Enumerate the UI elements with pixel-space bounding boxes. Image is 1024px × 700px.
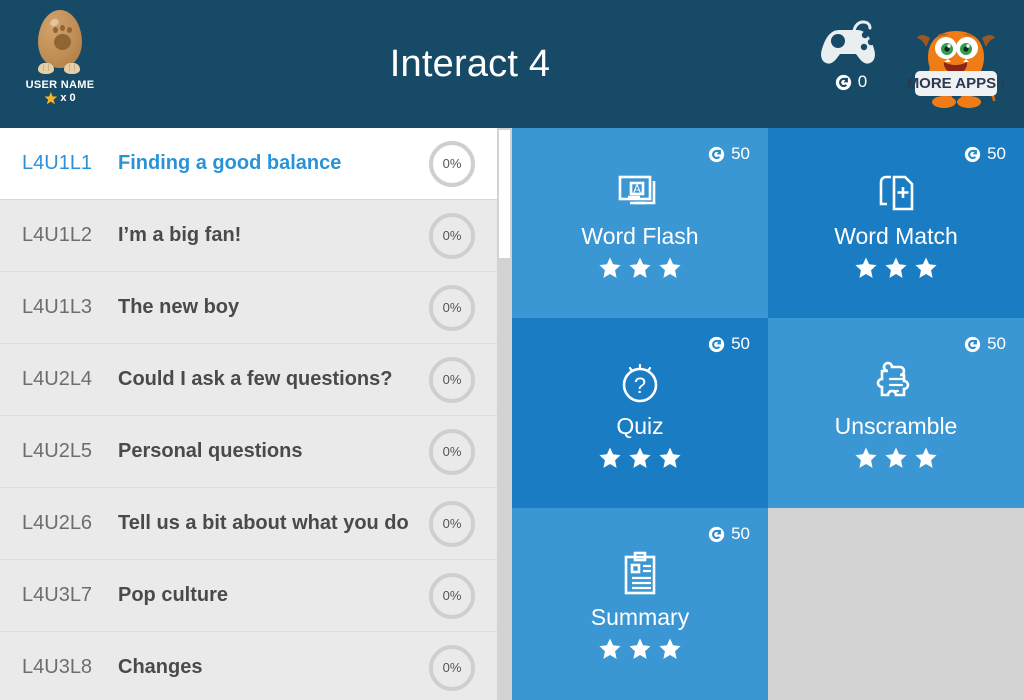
lesson-code: L4U1L3 — [22, 296, 118, 319]
avatar-toe — [67, 27, 72, 33]
avatar-toe — [53, 27, 58, 33]
star-icon — [915, 257, 937, 279]
tile-star-rating — [855, 447, 937, 469]
lesson-code: L4U2L6 — [22, 512, 118, 535]
lesson-row[interactable]: L4U3L7Pop culture0% — [0, 560, 497, 632]
activity-tile-empty — [768, 508, 1024, 700]
lesson-list[interactable]: L4U1L1Finding a good balance0%L4U1L2I’m … — [0, 128, 497, 700]
lesson-code: L4U1L2 — [22, 224, 118, 247]
coin-icon — [964, 336, 981, 353]
lesson-title: I’m a big fan! — [118, 224, 429, 247]
star-icon — [599, 638, 621, 660]
tile-coin-badge: 50 — [708, 334, 750, 354]
lesson-progress-ring: 0% — [429, 285, 475, 331]
user-avatar-block[interactable]: USER NAME x 0 — [12, 10, 108, 105]
avatar-foot-left — [38, 63, 54, 74]
tile-star-rating — [599, 638, 681, 660]
card-plus-icon — [870, 167, 922, 219]
lesson-progress-ring: 0% — [429, 501, 475, 547]
coin-icon — [708, 146, 725, 163]
svg-text:A: A — [633, 182, 641, 196]
tile-label: Unscramble — [835, 413, 958, 439]
star-icon — [659, 447, 681, 469]
star-icon — [599, 257, 621, 279]
star-icon — [855, 447, 877, 469]
star-icon — [659, 257, 681, 279]
svg-text:?: ? — [634, 373, 646, 398]
flashcard-icon: A — [614, 167, 666, 219]
lesson-progress-ring: 0% — [429, 645, 475, 691]
star-icon — [915, 447, 937, 469]
activity-tile[interactable]: 50Word Match — [768, 128, 1024, 318]
lesson-row[interactable]: L4U2L6Tell us a bit about what you do0% — [0, 488, 497, 560]
lesson-title: Could I ask a few questions? — [118, 368, 429, 391]
tile-star-rating — [855, 257, 937, 279]
lesson-title: Personal questions — [118, 440, 429, 463]
activity-tile[interactable]: 50Unscramble — [768, 318, 1024, 508]
tile-label: Summary — [591, 604, 689, 630]
avatar-foot-right — [64, 63, 80, 74]
app-root: USER NAME x 0 Interact 4 0 — [0, 0, 1024, 700]
lesson-progress-ring: 0% — [429, 429, 475, 475]
star-icon — [44, 92, 57, 105]
games-coin-count: 0 — [858, 72, 867, 92]
app-header: USER NAME x 0 Interact 4 0 — [0, 0, 1024, 128]
lesson-code: L4U3L8 — [22, 656, 118, 679]
lesson-code: L4U2L5 — [22, 440, 118, 463]
tile-coin-badge: 50 — [708, 524, 750, 544]
games-coin-counter: 0 — [812, 72, 890, 92]
user-star-score: x 0 — [12, 92, 108, 105]
activity-tile[interactable]: 50Summary — [512, 508, 768, 700]
tile-coin-count: 50 — [987, 334, 1006, 354]
lesson-progress-ring: 0% — [429, 573, 475, 619]
lesson-row[interactable]: L4U2L4Could I ask a few questions?0% — [0, 344, 497, 416]
lesson-code: L4U2L4 — [22, 368, 118, 391]
tile-label: Word Match — [834, 223, 958, 249]
tile-coin-count: 50 — [731, 334, 750, 354]
tile-coin-badge: 50 — [964, 334, 1006, 354]
gamepad-icon — [815, 20, 887, 66]
lesson-title: The new boy — [118, 296, 429, 319]
avatar-toe — [60, 25, 65, 31]
lesson-progress-ring: 0% — [429, 141, 475, 187]
avatar-egg-body — [38, 10, 82, 68]
more-apps-button[interactable]: MORE APPS › — [906, 16, 1006, 114]
avatar-paw-pad — [54, 34, 71, 50]
tile-coin-count: 50 — [731, 144, 750, 164]
user-name-label: USER NAME — [12, 79, 108, 92]
coin-icon — [835, 74, 852, 91]
user-star-count: x 0 — [60, 92, 75, 105]
lesson-title: Changes — [118, 656, 429, 679]
monster-mascot-icon: MORE APPS › — [906, 16, 1006, 114]
activity-grid: 50AWord Flash50Word Match50?Quiz50Unscra… — [512, 128, 1024, 700]
tile-coin-badge: 50 — [964, 144, 1006, 164]
tile-coin-badge: 50 — [708, 144, 750, 164]
star-icon — [659, 638, 681, 660]
coin-icon — [708, 336, 725, 353]
tile-star-rating — [599, 257, 681, 279]
tile-label: Word Flash — [581, 223, 698, 249]
coin-icon — [708, 526, 725, 543]
question-icon: ? — [614, 357, 666, 409]
page-title: Interact 4 — [150, 0, 790, 128]
lesson-progress-ring: 0% — [429, 213, 475, 259]
tile-star-rating — [599, 447, 681, 469]
lesson-row[interactable]: L4U1L1Finding a good balance0% — [0, 128, 497, 200]
puzzle-icon — [870, 357, 922, 409]
lesson-progress-ring: 0% — [429, 357, 475, 403]
lesson-row[interactable]: L4U1L2I’m a big fan!0% — [0, 200, 497, 272]
more-apps-label: MORE APPS › — [907, 75, 1006, 92]
games-button[interactable]: 0 — [812, 20, 890, 92]
lesson-list-scrollbar[interactable] — [497, 128, 512, 700]
star-icon — [855, 257, 877, 279]
star-icon — [599, 447, 621, 469]
lesson-row[interactable]: L4U2L5Personal questions0% — [0, 416, 497, 488]
lesson-list-scrollbar-thumb[interactable] — [499, 130, 510, 258]
lesson-title: Finding a good balance — [118, 152, 429, 175]
coin-icon — [964, 146, 981, 163]
lesson-code: L4U1L1 — [22, 152, 118, 175]
clipboard-icon — [614, 548, 666, 600]
star-icon — [629, 257, 651, 279]
lesson-row[interactable]: L4U3L8Changes0% — [0, 632, 497, 700]
tile-coin-count: 50 — [987, 144, 1006, 164]
star-icon — [629, 638, 651, 660]
lesson-row[interactable]: L4U1L3The new boy0% — [0, 272, 497, 344]
activity-tile[interactable]: 50?Quiz — [512, 318, 768, 508]
lesson-code: L4U3L7 — [22, 584, 118, 607]
star-icon — [885, 257, 907, 279]
lesson-title: Tell us a bit about what you do — [118, 512, 429, 535]
egg-creature-avatar-icon — [33, 10, 87, 78]
star-icon — [885, 447, 907, 469]
lesson-title: Pop culture — [118, 584, 429, 607]
star-icon — [629, 447, 651, 469]
activity-tile[interactable]: 50AWord Flash — [512, 128, 768, 318]
tile-label: Quiz — [616, 413, 663, 439]
tile-coin-count: 50 — [731, 524, 750, 544]
